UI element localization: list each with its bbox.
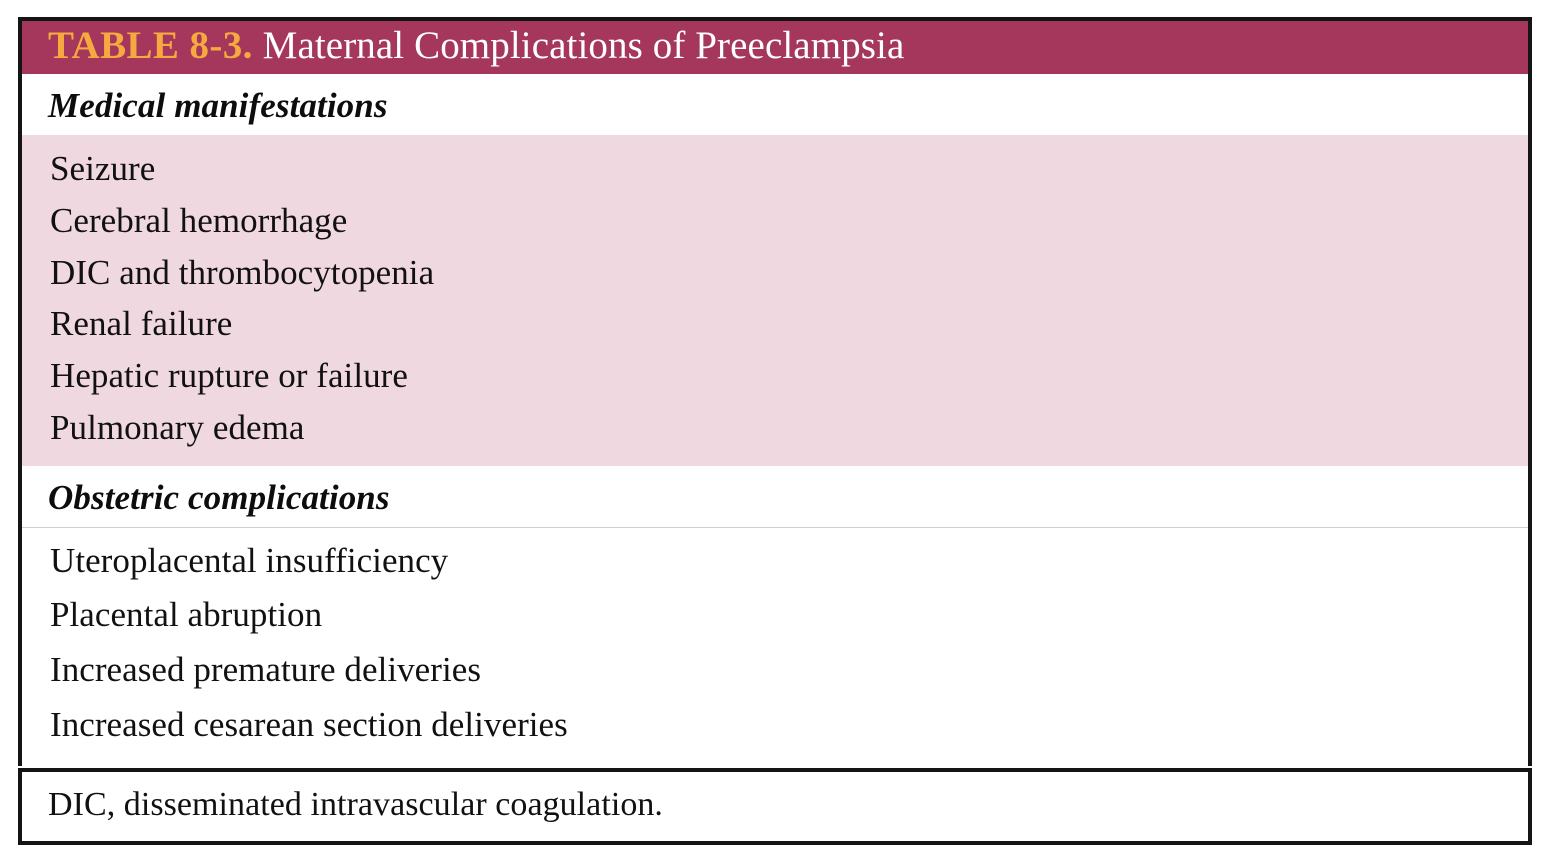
- table-title-label: Maternal Complications of Preeclampsia: [253, 24, 905, 67]
- list-item: Pulmonary edema: [22, 402, 1528, 454]
- page-canvas: TABLE 8-3. Maternal Complications of Pre…: [0, 0, 1550, 824]
- obstetric-item-list: Uteroplacental insufficiency Placental a…: [22, 528, 1528, 766]
- section-obstetric-complications: Obstetric complications Uteroplacental i…: [22, 466, 1528, 766]
- list-item: Increased premature deliveries: [22, 643, 1528, 698]
- section-medical-manifestations: Medical manifestations: [22, 74, 1528, 135]
- table-caption-bar: TABLE 8-3. Maternal Complications of Pre…: [22, 21, 1528, 74]
- list-item: Renal failure: [22, 298, 1528, 350]
- section-medical-items: Seizure Cerebral hemorrhage DIC and thro…: [22, 135, 1528, 466]
- table-main-body: TABLE 8-3. Maternal Complications of Pre…: [18, 17, 1532, 766]
- list-item: Increased cesarean section deliveries: [22, 698, 1528, 753]
- list-item: Uteroplacental insufficiency: [22, 534, 1528, 589]
- table-number-label: TABLE 8-3.: [48, 24, 253, 67]
- table-footnote: DIC, disseminated intravascular coagulat…: [18, 768, 1532, 845]
- section-heading-obstetric: Obstetric complications: [22, 466, 1528, 527]
- list-item: Placental abruption: [22, 588, 1528, 643]
- table-figure: TABLE 8-3. Maternal Complications of Pre…: [18, 17, 1532, 845]
- list-item: DIC and thrombocytopenia: [22, 247, 1528, 299]
- list-item: Seizure: [22, 143, 1528, 195]
- section-heading-medical: Medical manifestations: [22, 74, 1528, 135]
- medical-item-list: Seizure Cerebral hemorrhage DIC and thro…: [22, 135, 1528, 466]
- list-item: Cerebral hemorrhage: [22, 195, 1528, 247]
- list-item: Hepatic rupture or failure: [22, 350, 1528, 402]
